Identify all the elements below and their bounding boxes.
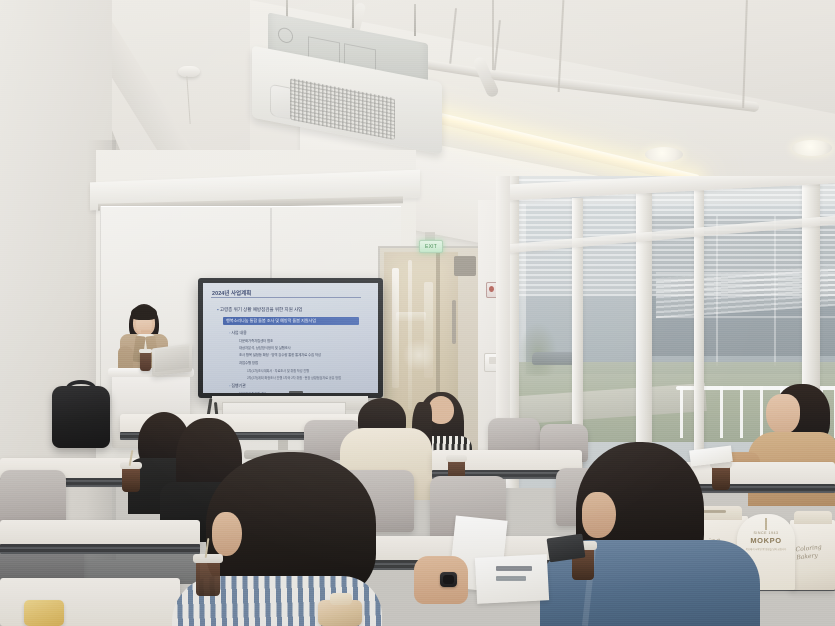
tablet-device[interactable] [547,534,586,563]
handout-text-line-2 [496,576,526,581]
seminar-room-photo: EXIT [0,0,835,626]
coffee-cup-4-lid [193,554,223,563]
bakery-box-right-script: Coloring Bakery [795,544,823,563]
slide-line-7: 다문화가족지원센터 [239,391,266,393]
laptop-screen [155,346,189,372]
display-bezel: 2024년 사업계획 ▪ 고령층 위기 상황 예방점검을 위한 지원 사업 행복… [198,278,383,398]
door-handle[interactable] [452,300,456,344]
slide-line-3: 조사 항목 설정등 확정 · 방역 강수량 통한 통계자료 수집 작성 [239,352,321,357]
display-brand-logo [289,391,303,393]
slide-line-2: 대상자분석, 상담방식정의 및 실행조사 [239,345,291,350]
bakery-box-since: SINCE 1943 [737,531,795,535]
slide-line-1: 다문화가족자립센터 협조 [239,338,273,343]
wristwatch-face [443,575,454,584]
coffee-cup-3 [712,466,730,490]
slide-title: 2024년 사업계획 [212,289,251,297]
exit-sign-label: EXIT [425,244,437,250]
attendee-striped-ear [212,512,242,556]
door-closer [454,256,476,276]
backpack [52,386,110,448]
coffee-cup-4 [196,562,220,596]
slide-line-6: 2차(2차)계획 확정조사 진행 1차와 2차 취합 · 현장 상황점검자료 공… [247,375,341,380]
bakery-box-name: MOKPO [737,536,795,545]
attendee-denim-ear-face [582,492,616,538]
downlight-icon-1 [645,147,683,162]
exterior-tree [518,322,558,376]
table-row-1a-edge [0,544,200,554]
fire-alarm-light [489,286,494,292]
exterior-car [532,352,576,365]
air-conditioner-unit [248,14,468,149]
ac-rod-2 [352,0,354,28]
ac-rod-3 [414,4,416,36]
exit-sign-bracket [425,232,435,240]
coffee-cup-1 [122,468,140,492]
slide-line-5: 1차(1차)조사계획서 · 자료조사 및 취합 작성 진행 [247,368,309,373]
smoke-detector-icon [178,66,200,77]
downlight-icon-3 [792,140,832,156]
snack-package [24,600,64,626]
pastry-top [330,593,352,605]
window-mullion-4 [694,176,704,488]
slide-section-2: ◦ 집행기관 [229,383,246,389]
presenter-cup [140,352,151,371]
slide-bullet-main: ▪ 고령층 위기 상황 예방점검을 위한 지원 사업 [217,307,302,313]
door-logo [402,338,436,372]
presenter-cup-lid [139,349,152,353]
ceiling-rod-1 [492,0,494,70]
slide-highlight-band: 행복소리나눔 통합 돌봄 조사 및 예방적 돌봄 지원사업 [223,317,359,325]
exit-sign: EXIT [419,240,443,253]
attendee-tan-head [766,394,800,434]
table-row-1a [0,520,200,546]
coffee-cup-2-lid [446,455,467,462]
wall-display[interactable]: 2024년 사업계획 ▪ 고령층 위기 상황 예방점검을 위한 지원 사업 행복… [198,278,383,410]
presenter-hair-front [131,306,157,320]
handout-text-line-1 [496,566,532,571]
display-screen: 2024년 사업계획 ▪ 고령층 위기 상황 예방점검을 위한 지원 사업 행복… [203,283,378,393]
slide-line-4: 과업수행 방법 [239,360,258,365]
slide-section-1: ◦ 사업 내용 [229,330,247,336]
